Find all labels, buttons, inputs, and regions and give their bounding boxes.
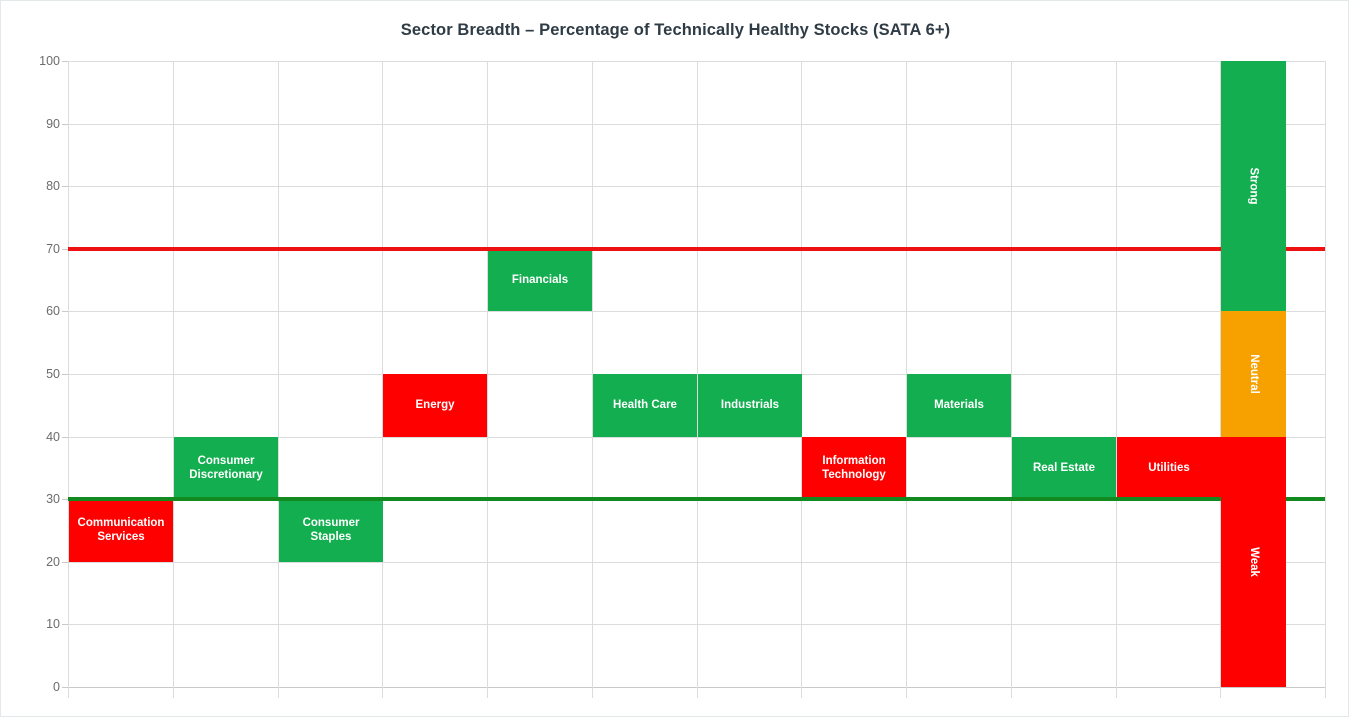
y-axis-tick-label: 100 bbox=[14, 54, 60, 68]
plot-area: 0102030405060708090100 Communication Ser… bbox=[68, 61, 1325, 687]
bar-label: Communication Services bbox=[69, 516, 173, 545]
bar-industrials[interactable]: Industrials bbox=[698, 374, 802, 437]
y-axis-tick-label: 10 bbox=[14, 617, 60, 631]
y-axis-tick-label: 30 bbox=[14, 492, 60, 506]
bar-health-care[interactable]: Health Care bbox=[593, 374, 697, 437]
x-gridline bbox=[1011, 61, 1012, 698]
y-tick-mark bbox=[62, 124, 68, 125]
lower-threshold-line bbox=[68, 497, 1325, 501]
y-tick-mark bbox=[62, 562, 68, 563]
bar-label: Utilities bbox=[1145, 461, 1193, 475]
zone-neutral: Neutral bbox=[1221, 311, 1286, 436]
x-gridline bbox=[1116, 61, 1117, 698]
bar-utilities[interactable]: Utilities bbox=[1117, 437, 1221, 500]
bar-label: Consumer Staples bbox=[279, 516, 383, 545]
zone-label: Weak bbox=[1248, 547, 1260, 577]
bar-label: Financials bbox=[509, 273, 571, 287]
zone-weak: Weak bbox=[1221, 437, 1286, 687]
y-tick-mark bbox=[62, 374, 68, 375]
chart-title: Sector Breadth – Percentage of Technical… bbox=[1, 21, 1349, 40]
upper-threshold-line bbox=[68, 247, 1325, 251]
bar-label: Real Estate bbox=[1030, 461, 1098, 475]
x-gridline bbox=[68, 61, 69, 698]
x-gridline bbox=[278, 61, 279, 698]
bar-energy[interactable]: Energy bbox=[383, 374, 487, 437]
y-axis-tick-label: 80 bbox=[14, 179, 60, 193]
y-axis-tick-label: 50 bbox=[14, 367, 60, 381]
bar-label: Energy bbox=[413, 398, 458, 412]
zone-label: Strong bbox=[1248, 168, 1260, 205]
x-gridline bbox=[173, 61, 174, 698]
bar-label: Information Technology bbox=[802, 454, 906, 483]
zone-strong: Strong bbox=[1221, 61, 1286, 311]
x-gridline bbox=[487, 61, 488, 698]
bar-label: Health Care bbox=[610, 398, 680, 412]
bar-consumer-discretionary[interactable]: Consumer Discretionary bbox=[174, 437, 278, 500]
y-axis-tick-label: 40 bbox=[14, 430, 60, 444]
bar-label: Industrials bbox=[718, 398, 782, 412]
chart-canvas: Sector Breadth – Percentage of Technical… bbox=[0, 0, 1349, 717]
bar-label: Materials bbox=[931, 398, 987, 412]
bar-communication-services[interactable]: Communication Services bbox=[69, 499, 173, 562]
x-gridline bbox=[1325, 61, 1326, 698]
y-tick-mark bbox=[62, 624, 68, 625]
bar-information-technology[interactable]: Information Technology bbox=[802, 437, 906, 500]
bar-consumer-staples[interactable]: Consumer Staples bbox=[279, 499, 383, 562]
y-axis-tick-label: 20 bbox=[14, 555, 60, 569]
y-tick-mark bbox=[62, 61, 68, 62]
y-axis-tick-label: 0 bbox=[14, 680, 60, 694]
bar-financials[interactable]: Financials bbox=[488, 249, 592, 312]
y-tick-mark bbox=[62, 311, 68, 312]
y-tick-mark bbox=[62, 437, 68, 438]
y-axis-tick-label: 90 bbox=[14, 117, 60, 131]
bar-real-estate[interactable]: Real Estate bbox=[1012, 437, 1116, 500]
y-tick-mark bbox=[62, 186, 68, 187]
bar-label: Consumer Discretionary bbox=[174, 454, 278, 483]
bar-materials[interactable]: Materials bbox=[907, 374, 1011, 437]
zone-label: Neutral bbox=[1248, 354, 1260, 394]
y-tick-mark bbox=[62, 687, 68, 688]
y-axis-tick-label: 60 bbox=[14, 304, 60, 318]
y-axis-tick-label: 70 bbox=[14, 242, 60, 256]
